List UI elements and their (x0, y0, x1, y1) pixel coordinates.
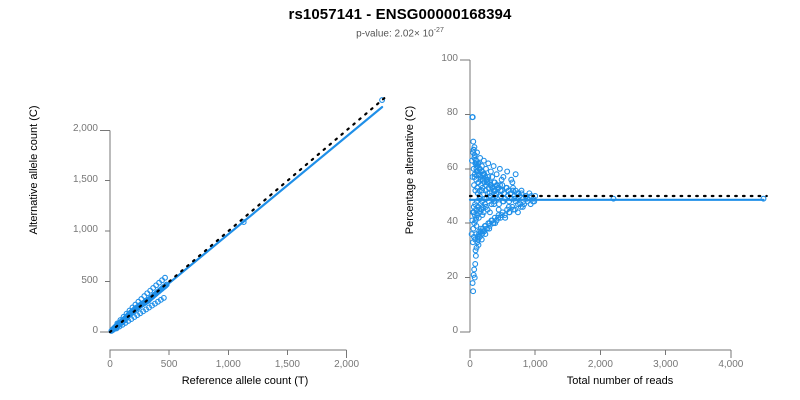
left-y-axis-title: Alternative allele count (C) (28, 40, 40, 300)
right-y-tick-label: 40 (400, 216, 458, 227)
left-x-tick-label: 0 (80, 359, 140, 370)
right-x-tick-label: 4,000 (701, 359, 761, 370)
figure-canvas: rs1057141 - ENSG00000168394 p-value: 2.0… (0, 0, 800, 400)
figure-subtitle: p-value: 2.02× 10-27 (0, 27, 800, 39)
left-y-tick-label: 0 (40, 325, 98, 336)
left-y-tick-label: 1,000 (40, 224, 98, 235)
right-plot-area (440, 40, 800, 370)
right-y-tick-label: 60 (400, 162, 458, 173)
left-x-tick-label: 2,000 (317, 359, 377, 370)
right-y-tick-label: 100 (400, 53, 458, 64)
right-x-tick-label: 3,000 (636, 359, 696, 370)
right-x-tick-label: 2,000 (570, 359, 630, 370)
right-x-tick-label: 1,000 (505, 359, 565, 370)
right-y-tick-label: 0 (400, 325, 458, 336)
left-y-tick-label: 2,000 (40, 123, 98, 134)
y-axis-line (460, 60, 470, 332)
right-x-tick-label: 0 (440, 359, 500, 370)
right-y-tick-label: 80 (400, 107, 458, 118)
scatter-points (469, 115, 766, 294)
left-y-tick-label: 500 (40, 275, 98, 286)
left-y-tick-label: 1,500 (40, 174, 98, 185)
left-x-tick-label: 1,500 (257, 359, 317, 370)
pvalue-exponent: -27 (434, 27, 444, 34)
reference-line (110, 98, 384, 332)
left-x-tick-label: 1,000 (198, 359, 258, 370)
y-axis-line (100, 130, 110, 332)
left-x-tick-label: 500 (139, 359, 199, 370)
right-y-tick-label: 20 (400, 271, 458, 282)
left-x-axis-title: Reference allele count (T) (95, 375, 395, 387)
figure-title: rs1057141 - ENSG00000168394 (0, 6, 800, 23)
left-plot-area (75, 40, 395, 370)
right-x-axis-title: Total number of reads (490, 375, 750, 387)
fitted-regression-line (110, 107, 382, 332)
x-axis-line (110, 350, 347, 358)
pvalue-text: p-value: 2.02× 10 (356, 28, 434, 39)
x-axis-line (470, 350, 731, 358)
